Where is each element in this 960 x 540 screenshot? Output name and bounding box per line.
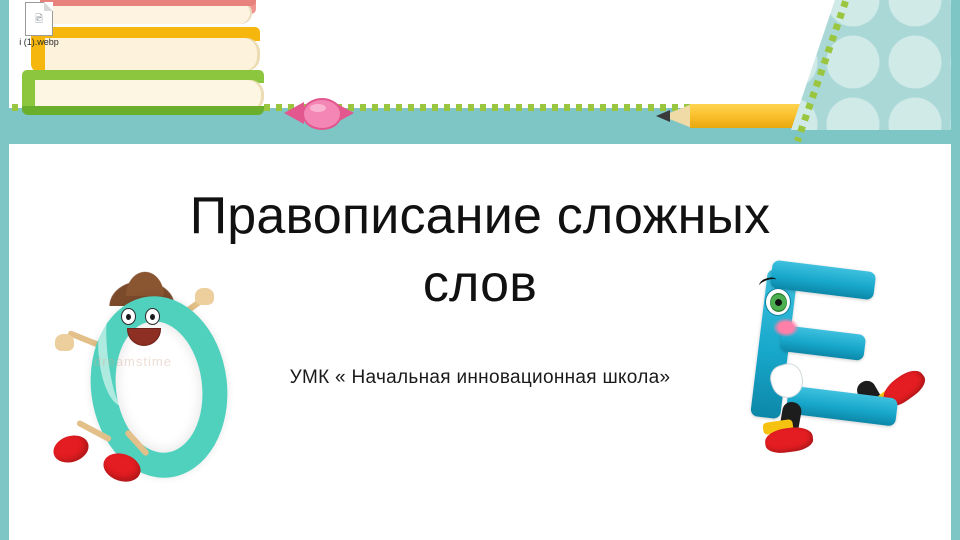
presentation-slide: Правописание сложных слов УМК « Начальна… [0, 0, 960, 540]
slide-title: Правописание сложных слов [150, 182, 810, 318]
slide-header-decoration [0, 0, 960, 144]
desktop-file-item[interactable]: 🖻 i (1).webp [10, 2, 68, 47]
o-mascot-hair-top [123, 268, 167, 296]
image-file-icon[interactable]: 🖻 [25, 2, 53, 36]
letter-e-mascot [735, 252, 930, 460]
e-mascot-bottom-bar [786, 385, 899, 426]
candy-icon [282, 96, 356, 128]
slide-title-line-1: Правописание сложных [190, 187, 771, 245]
candy-wrapper-left [284, 102, 304, 124]
o-mascot-shoe-left [50, 431, 92, 467]
letter-o-mascot: dreamstime [45, 258, 220, 483]
slide-border-right [951, 0, 960, 540]
o-mascot-hand-right [195, 288, 214, 305]
slide-subtitle: УМК « Начальная инновационная школа» [150, 367, 810, 389]
yellow-book-pages [38, 38, 260, 71]
pink-book-edge [40, 0, 256, 6]
o-mascot-eye-left [121, 308, 136, 325]
file-name-label: i (1).webp [10, 37, 68, 47]
slide-title-line-2: слов [423, 255, 537, 313]
pencil-graphite-tip [656, 110, 670, 122]
green-book-base [22, 106, 264, 115]
stock-watermark: dreamstime [73, 354, 193, 369]
slide-border-left [0, 0, 9, 540]
o-mascot-eye-right [145, 308, 160, 325]
o-mascot-hand-left [55, 334, 74, 351]
file-icon-thumbnail: 🖻 [26, 12, 52, 29]
candy-body [302, 98, 342, 130]
e-mascot-cheek [773, 318, 799, 337]
e-mascot-eye [765, 288, 791, 316]
